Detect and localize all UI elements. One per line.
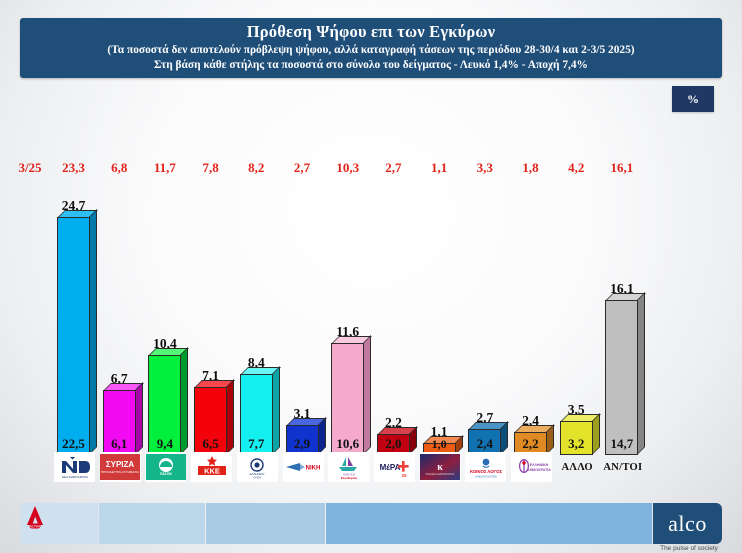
bar-body: 9,4 <box>148 355 181 455</box>
bar-side-face <box>180 347 188 455</box>
percent-unit-badge: % <box>672 86 714 112</box>
alco-wordmark: alco <box>668 513 707 535</box>
party-logo-koinos: ΚΟΙΝΟΣ ΛΟΓΟΣ ΚΙΝΗΣΗ ΠΟΛΙΤΩΝ <box>465 452 506 482</box>
svg-text:ΠΑΣΟΚ: ΠΑΣΟΚ <box>160 472 173 476</box>
bar-syriza[interactable]: 6,76,1 <box>103 390 136 455</box>
bar-inner-value: 6,1 <box>103 436 136 452</box>
svg-text:ΚΙΝΗΣΗ ΠΟΛΙΤΩΝ: ΚΙΝΗΣΗ ΠΟΛΙΤΩΝ <box>475 475 496 478</box>
kappa-logo-icon: κ ΚΙΝΗΜΑ ΔΗΜΟΚΡΑΤΙΑΣ <box>420 454 460 480</box>
bar-body: 2,4 <box>468 429 501 455</box>
svg-text:ALPHA: ALPHA <box>30 524 41 528</box>
bar-inner-value: 6,5 <box>194 436 227 452</box>
bar-inner-value: 22,5 <box>57 436 90 452</box>
bar-kke[interactable]: 7,16,5 <box>194 387 227 455</box>
nd-logo-icon: ΝΕΑ ΔΗΜΟΚΡΑΤΙΑ <box>55 454 95 480</box>
bar-inner-value: 14,7 <box>605 436 638 452</box>
bar-body: 6,1 <box>103 390 136 455</box>
header-subtitle-1: (Τα ποσοστά δεν αποτελούν πρόβλεψη ψήφου… <box>20 44 722 56</box>
bar-plefsi[interactable]: 11,610,6 <box>331 343 364 455</box>
svg-text:κ: κ <box>437 462 443 473</box>
bar-side-face <box>637 292 645 455</box>
bar-body: 2,9 <box>286 425 319 455</box>
party-logo-pasok: ΠΑΣΟΚ <box>145 452 186 482</box>
bar-front-face <box>605 300 638 455</box>
bar-side-face <box>226 379 234 455</box>
category-label-antoi: ΑΝ/ΤΟΙ <box>602 452 643 482</box>
svg-text:ΝΕΑ ΔΗΜΟΚΡΑΤΙΑ: ΝΕΑ ΔΗΜΟΚΡΑΤΙΑ <box>62 475 88 479</box>
bar-elldim[interactable]: 2,42,2 <box>514 432 547 455</box>
bar-inner-value: 10,6 <box>331 436 364 452</box>
category-label-text: ΑΝ/ΤΟΙ <box>603 462 642 473</box>
plefsi-logo-icon: ΠΛΕΥΣΗ Ελευθερίας <box>329 454 369 480</box>
bar-side-face <box>363 335 371 455</box>
footer-block-4 <box>326 503 652 544</box>
party-logo-elliniki: ΕΛΛΗΝΙΚΗ ΛΥΣΗ <box>237 452 278 482</box>
svg-text:ΚΚΕ: ΚΚΕ <box>204 466 220 475</box>
bar-side-face <box>318 417 326 455</box>
bar-chart-plot: 24,722,56,76,110,49,47,16,58,47,73,12,91… <box>0 180 742 455</box>
party-logo-niki: ΝΙΚΗ <box>283 452 324 482</box>
bar-inner-value: 2,0 <box>377 436 410 452</box>
svg-text:ΜέΡΑ: ΜέΡΑ <box>380 463 401 472</box>
bar-side-face <box>89 209 97 455</box>
koinos-logo-icon: ΚΟΙΝΟΣ ΛΟΓΟΣ ΚΙΝΗΣΗ ΠΟΛΙΤΩΝ <box>466 454 506 480</box>
alco-logo: alco <box>653 503 722 544</box>
bar-body: 3,2 <box>560 421 593 455</box>
bar-koinos[interactable]: 2,72,4 <box>468 429 501 455</box>
footer-bar: ALPHA alco The pulse of society <box>0 503 742 549</box>
category-label-allo: ΑΛΛΟ <box>557 452 598 482</box>
footer-block-alpha: ALPHA <box>20 503 98 544</box>
bar-front-face <box>57 217 90 455</box>
party-logo-nd: ΝΕΑ ΔΗΜΟΚΡΑΤΙΑ <box>54 452 95 482</box>
bar-body: 10,6 <box>331 343 364 455</box>
alco-tagline: The pulse of society <box>653 545 725 552</box>
bar-pasok[interactable]: 10,49,4 <box>148 355 181 455</box>
svg-text:ΝΙΚΗ: ΝΙΚΗ <box>306 466 321 472</box>
bar-body: 6,5 <box>194 387 227 455</box>
bar-body: 2,0 <box>377 434 410 455</box>
niki-logo-icon: ΝΙΚΗ <box>283 454 323 480</box>
bar-elliniki[interactable]: 8,47,7 <box>240 374 273 455</box>
bar-body: 2,2 <box>514 432 547 455</box>
previous-wave-row: 3/2523,36,811,77,88,22,710,32,71,13,31,8… <box>0 160 742 178</box>
svg-text:ΠΡΟΟΔΕΥΤΙΚΗ ΣΥΜΜΑΧΙΑ: ΠΡΟΟΔΕΥΤΙΚΗ ΣΥΜΜΑΧΙΑ <box>101 470 139 474</box>
bar-inner-value: 2,2 <box>514 436 547 452</box>
page-title: Πρόθεση Ψήφου επι των Εγκύρων <box>20 22 722 42</box>
bar-inner-value: 2,9 <box>286 436 319 452</box>
header-band: Πρόθεση Ψήφου επι των Εγκύρων (Τα ποσοστ… <box>20 18 722 78</box>
bar-antoi[interactable]: 16,114,7 <box>605 300 638 455</box>
previous-wave-value: 16,1 <box>592 160 652 176</box>
footer-block-3 <box>206 503 325 544</box>
svg-text:25: 25 <box>402 473 408 478</box>
bar-side-face <box>272 366 280 455</box>
bar-niki[interactable]: 3,12,9 <box>286 425 319 455</box>
bar-side-face <box>500 421 508 455</box>
bar-inner-value: 3,2 <box>560 436 593 452</box>
svg-text:ΚΙΝΗΜΑ ΔΗΜΟΚΡΑΤΙΑΣ: ΚΙΝΗΜΑ ΔΗΜΟΚΡΑΤΙΑΣ <box>426 472 455 476</box>
svg-text:Ελευθερίας: Ελευθερίας <box>340 476 357 480</box>
bar-side-face <box>135 382 143 455</box>
svg-text:ΕΛΛΗΝΙΚΗ: ΕΛΛΗΝΙΚΗ <box>529 463 548 467</box>
category-label-text: ΑΛΛΟ <box>561 462 592 473</box>
bar-inner-value: 7,7 <box>240 436 273 452</box>
bar-body: 7,7 <box>240 374 273 455</box>
slide-canvas: Πρόθεση Ψήφου επι των Εγκύρων (Τα ποσοστ… <box>0 0 742 553</box>
alpha-tv-logo-icon: ALPHA <box>20 503 50 531</box>
bar-body: 14,7 <box>605 300 638 455</box>
kke-logo-icon: ΚΚΕ <box>192 454 232 480</box>
svg-text:ΛΥΣΗ: ΛΥΣΗ <box>254 475 262 479</box>
bar-inner-value: 1,0 <box>423 437 456 452</box>
party-logo-strip: ΝΕΑ ΔΗΜΟΚΡΑΤΙΑ ΣΥΡΙΖΑ ΠΡΟΟΔΕΥΤΙΚΗ ΣΥΜΜΑΧ… <box>0 452 742 484</box>
svg-text:ΚΟΙΝΟΣ ΛΟΓΟΣ: ΚΟΙΝΟΣ ΛΟΓΟΣ <box>470 469 503 474</box>
svg-text:ΣΥΡΙΖΑ: ΣΥΡΙΖΑ <box>106 460 135 469</box>
party-logo-kassel: κ ΚΙΝΗΜΑ ΔΗΜΟΚΡΑΤΙΑΣ <box>420 452 461 482</box>
bar-inner-value: 2,4 <box>468 436 501 452</box>
party-logo-syriza: ΣΥΡΙΖΑ ΠΡΟΟΔΕΥΤΙΚΗ ΣΥΜΜΑΧΙΑ <box>100 452 141 482</box>
mera25-logo-icon: ΜέΡΑ 25 <box>374 454 414 480</box>
bar-body: 22,5 <box>57 217 90 455</box>
pasok-logo-icon: ΠΑΣΟΚ <box>146 454 186 480</box>
syriza-logo-icon: ΣΥΡΙΖΑ ΠΡΟΟΔΕΥΤΙΚΗ ΣΥΜΜΑΧΙΑ <box>100 454 140 480</box>
bar-nd[interactable]: 24,722,5 <box>57 217 90 455</box>
bar-side-face <box>592 413 600 455</box>
header-subtitle-2: Στη βάση κάθε στήλης τα ποσοστά στο σύνο… <box>20 59 722 71</box>
ellysi-logo-icon: ΕΛΛΗΝΙΚΗ ΛΥΣΗ <box>237 454 277 480</box>
party-logo-plefsi: ΠΛΕΥΣΗ Ελευθερίας <box>328 452 369 482</box>
bar-allo[interactable]: 3,53,2 <box>560 421 593 455</box>
elldim-logo-icon: ΕΛΛΗΝΙΚΗ ΔΗΜΟΚΡΑΤΙΑ <box>512 454 552 480</box>
svg-text:ΔΗΜΟΚΡΑΤΙΑ: ΔΗΜΟΚΡΑΤΙΑ <box>527 468 551 472</box>
bar-mera25[interactable]: 2,22,0 <box>377 434 410 455</box>
bar-inner-value: 9,4 <box>148 436 181 452</box>
party-logo-mera25: ΜέΡΑ 25 <box>374 452 415 482</box>
party-logo-elldim: ΕΛΛΗΝΙΚΗ ΔΗΜΟΚΡΑΤΙΑ <box>511 452 552 482</box>
party-logo-kke: ΚΚΕ <box>191 452 232 482</box>
footer-block-2 <box>99 503 205 544</box>
